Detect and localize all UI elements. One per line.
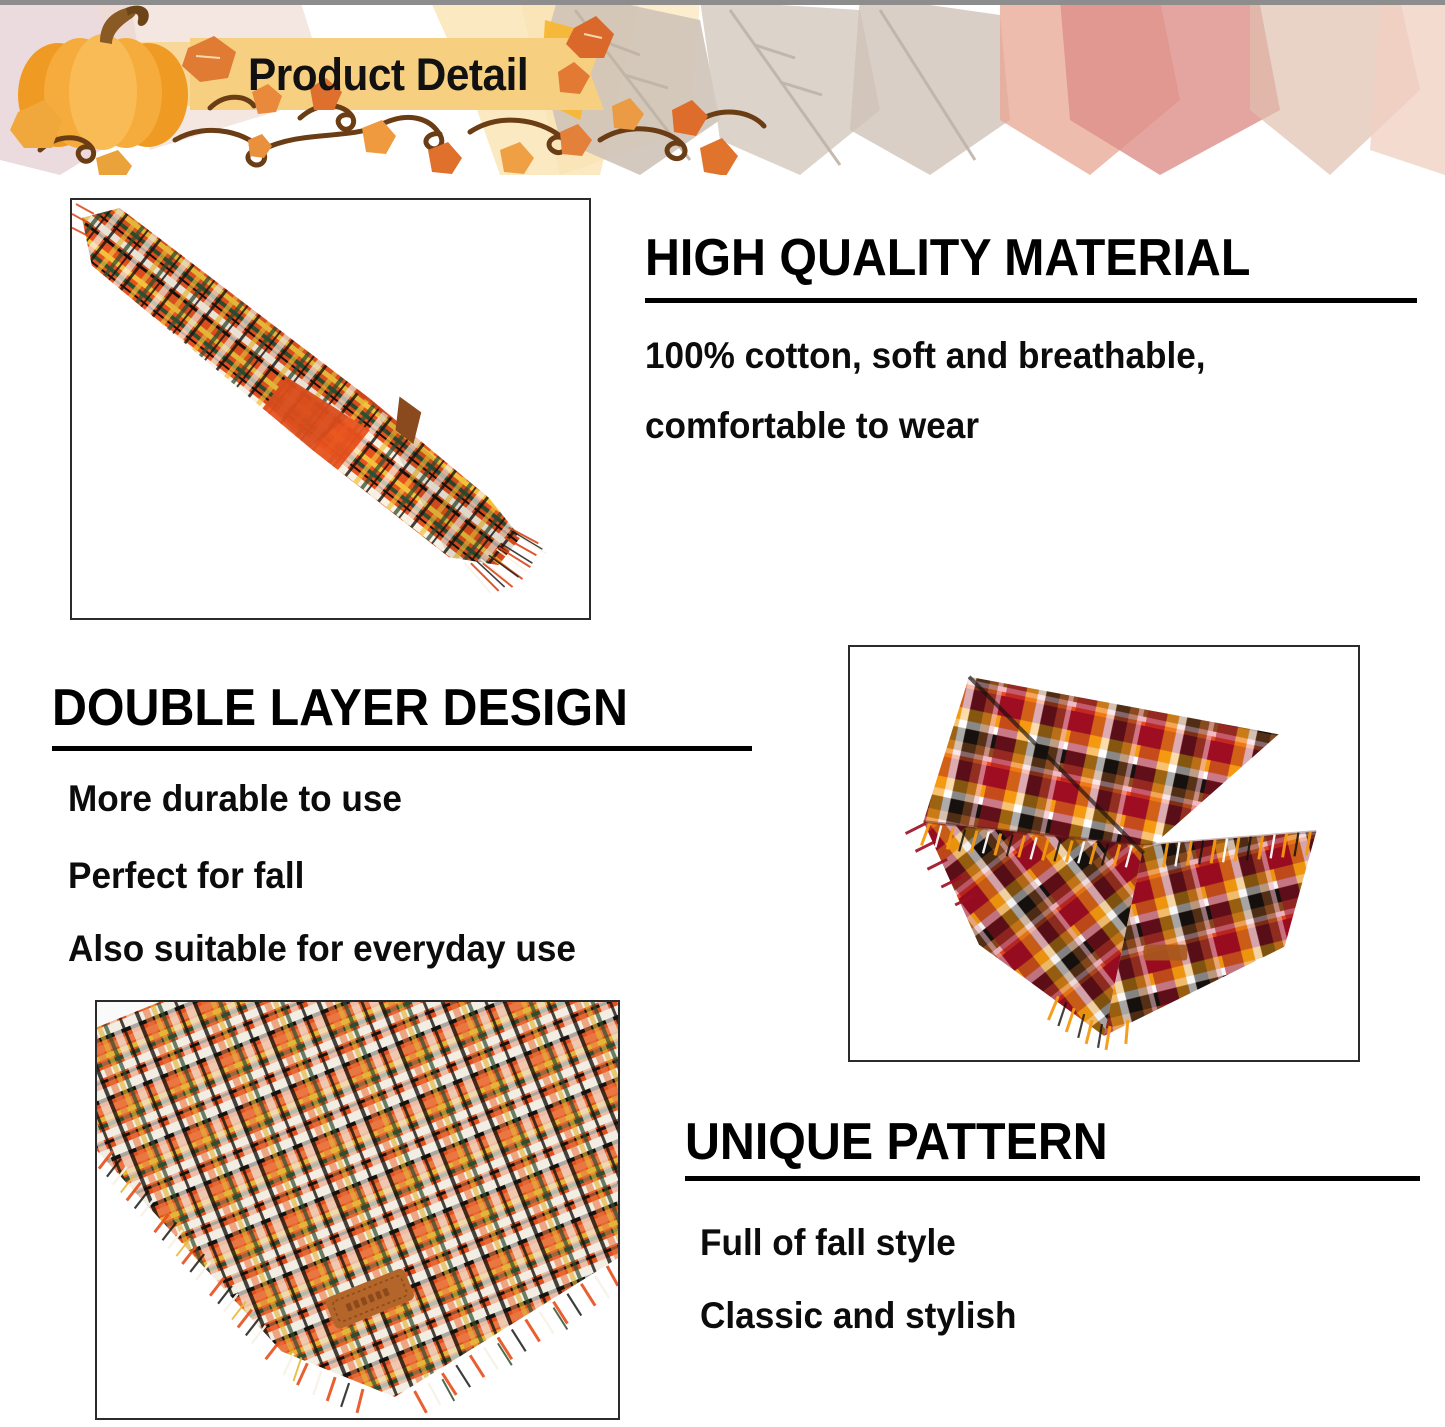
feature-line-double-layer-2: Perfect for fall: [68, 855, 304, 897]
feature-line-material-2: comfortable to wear: [645, 405, 979, 447]
plaid-corner-image: [97, 1002, 618, 1419]
feature-heading-unique-pattern: UNIQUE PATTERN: [685, 1112, 1108, 1172]
rolled-bandana-photo[interactable]: [70, 198, 591, 620]
feature-line-double-layer-3: Also suitable for everyday use: [68, 928, 576, 970]
plaid-corner-detail-photo[interactable]: [95, 1000, 620, 1420]
folded-bandana-image: [850, 647, 1358, 1061]
feature-rule-high-quality-material: [645, 298, 1417, 303]
feature-heading-double-layer-design: DOUBLE LAYER DESIGN: [52, 678, 628, 738]
feature-line-unique-pattern-2: Classic and stylish: [700, 1295, 1016, 1337]
feature-heading-high-quality-material: HIGH QUALITY MATERIAL: [645, 228, 1250, 288]
folded-triangle-bandana-photo[interactable]: [848, 645, 1360, 1062]
feature-rule-double-layer-design: [52, 746, 752, 751]
feature-line-material-1: 100% cotton, soft and breathable,: [645, 335, 1206, 377]
feature-line-double-layer-1: More durable to use: [68, 778, 402, 820]
feature-rule-unique-pattern: [685, 1176, 1420, 1181]
page-title: Product Detail: [248, 49, 528, 101]
rolled-bandana-image: [72, 200, 589, 619]
pumpkin-icon: [0, 0, 1445, 175]
header-banner: Product Detail: [0, 0, 1445, 175]
feature-line-unique-pattern-1: Full of fall style: [700, 1222, 956, 1264]
